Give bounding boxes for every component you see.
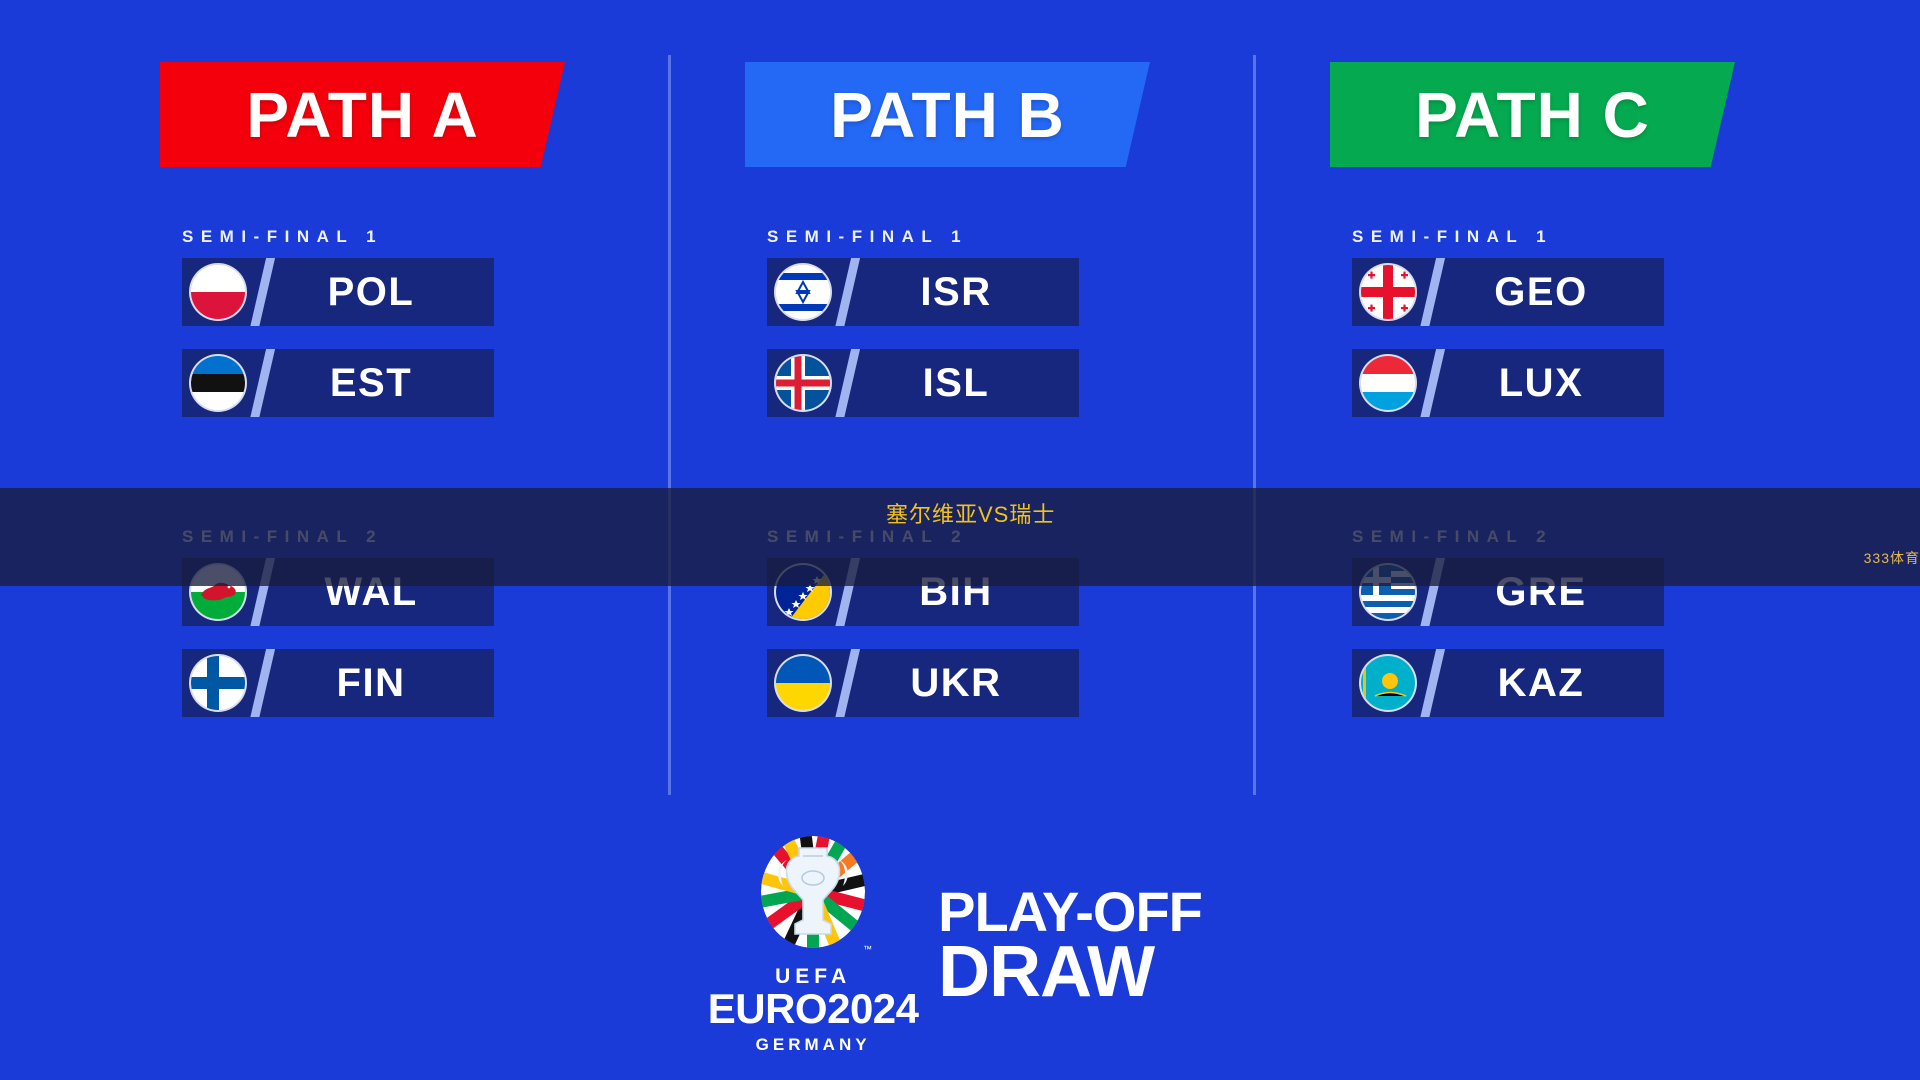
euro-2024-text: EURO2024 — [708, 987, 919, 1031]
uefa-text: UEFA — [708, 966, 919, 987]
ukraine-flag — [767, 649, 839, 717]
table-row[interactable]: GEO — [1352, 258, 1664, 326]
georgia-flag — [1352, 258, 1424, 326]
path-a-semifinal-1-label: SEMI-FINAL 1 — [182, 227, 383, 247]
team-code: KAZ — [1424, 663, 1664, 703]
team-code: GEO — [1424, 272, 1664, 312]
iceland-flag — [767, 349, 839, 417]
table-row[interactable]: LUX — [1352, 349, 1664, 417]
kazakhstan-flag — [1352, 649, 1424, 717]
path-column-b: PATH B SEMI-FINAL 1 SEMI-FINAL 2 ISR — [745, 0, 1265, 800]
israel-flag — [767, 258, 839, 326]
team-code: LUX — [1424, 363, 1664, 403]
table-row[interactable]: UKR — [767, 649, 1079, 717]
table-row[interactable]: FIN — [182, 649, 494, 717]
germany-text: GERMANY — [708, 1031, 919, 1058]
poland-flag — [182, 258, 254, 326]
team-code: POL — [254, 272, 494, 312]
path-c-banner: PATH C — [1330, 62, 1735, 167]
table-row[interactable]: ISR — [767, 258, 1079, 326]
title-line-1: PLAY-OFF — [938, 885, 1202, 939]
table-row[interactable]: KAZ — [1352, 649, 1664, 717]
team-code: EST — [254, 363, 494, 403]
euro-wordmark: UEFA EURO2024 GERMANY — [708, 966, 919, 1058]
team-code: FIN — [254, 663, 494, 703]
path-a-banner: PATH A — [160, 62, 565, 167]
team-code: ISL — [839, 363, 1079, 403]
path-c-title: PATH C — [1415, 83, 1650, 147]
table-row[interactable]: ISL — [767, 349, 1079, 417]
path-column-a: PATH A SEMI-FINAL 1 SEMI-FINAL 2 POL EST — [160, 0, 680, 800]
finland-flag — [182, 649, 254, 717]
path-b-semifinal-1-label: SEMI-FINAL 1 — [767, 227, 968, 247]
playoff-draw-title: PLAY-OFF DRAW — [938, 885, 1202, 1008]
trademark-symbol: ™ — [863, 944, 872, 954]
luxembourg-flag — [1352, 349, 1424, 417]
footer-branding: ™ UEFA EURO2024 GERMANY PLAY-OFF DRAW — [0, 830, 1920, 1062]
table-row[interactable]: POL — [182, 258, 494, 326]
paths-container: PATH A SEMI-FINAL 1 SEMI-FINAL 2 POL EST — [0, 0, 1920, 820]
path-c-semifinal-1-label: SEMI-FINAL 1 — [1352, 227, 1553, 247]
title-line-2: DRAW — [938, 938, 1202, 1007]
euro-trophy-icon: ™ — [749, 834, 877, 962]
euro-2024-logo: ™ UEFA EURO2024 GERMANY — [718, 834, 908, 1058]
team-code: UKR — [839, 663, 1079, 703]
overlay-watermark: 333体育 — [1864, 548, 1920, 568]
path-a-title: PATH A — [246, 83, 478, 147]
team-code: ISR — [839, 272, 1079, 312]
table-row[interactable]: EST — [182, 349, 494, 417]
playoff-draw-graphic: PATH A SEMI-FINAL 1 SEMI-FINAL 2 POL EST — [0, 0, 1920, 1080]
estonia-flag — [182, 349, 254, 417]
path-b-title: PATH B — [830, 83, 1065, 147]
overlay-caption: 塞尔维亚VS瑞士 — [886, 497, 1055, 529]
path-b-banner: PATH B — [745, 62, 1150, 167]
path-column-c: PATH C SEMI-FINAL 1 SEMI-FINAL 2 — [1330, 0, 1850, 800]
